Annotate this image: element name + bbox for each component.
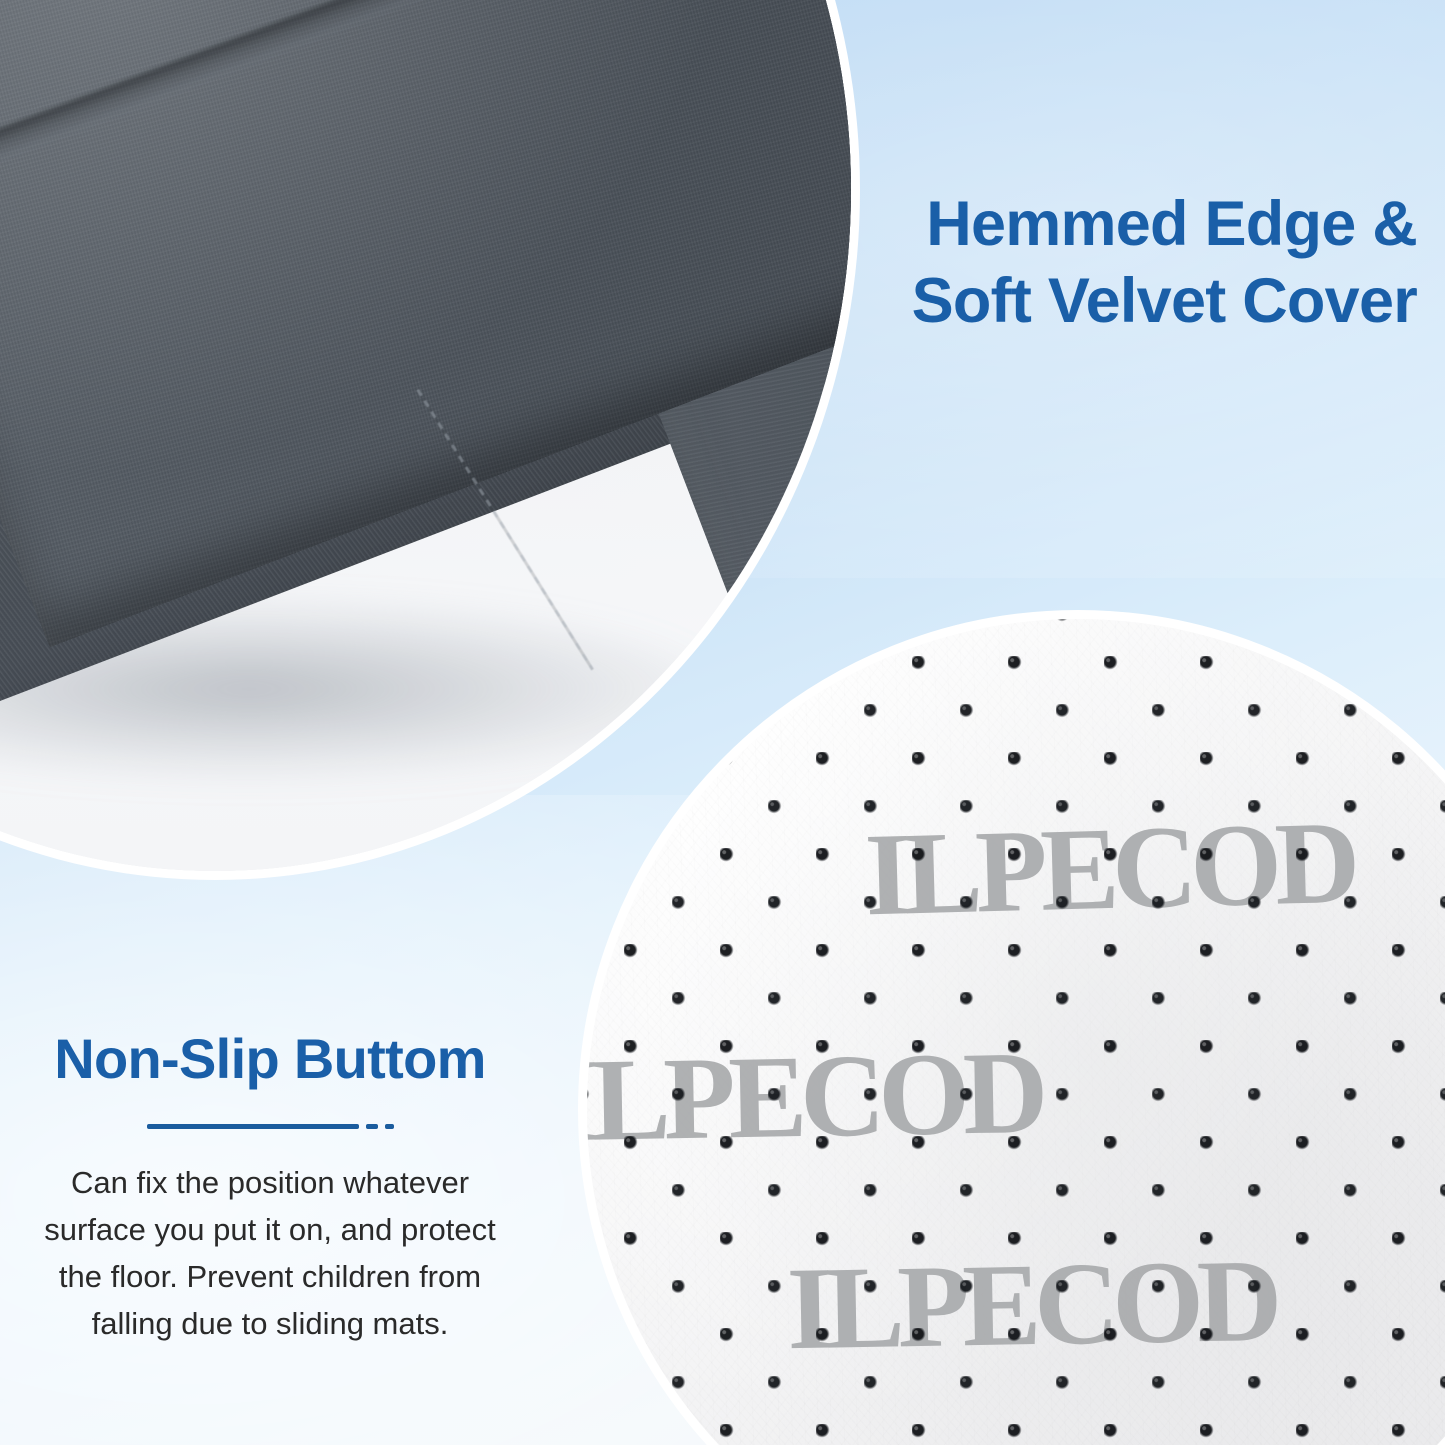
divider-dash-1 [366, 1124, 378, 1129]
divider-dash-2 [385, 1124, 394, 1129]
anti-slip-rubber-dots [578, 610, 1445, 1445]
product-feature-graphic: ILPECOD ILPECOD ILPECOD Hemmed Edge & So… [0, 0, 1445, 1445]
headline-line-1: Hemmed Edge & [926, 189, 1417, 259]
feature-non-slip-block: Non-Slip Buttom Can fix the position wha… [0, 1028, 540, 1347]
headline-line-2: Soft Velvet Cover [717, 263, 1417, 340]
feature-divider [0, 1124, 540, 1129]
divider-bar [147, 1124, 359, 1129]
feature-description: Can fix the position whatever surface yo… [0, 1159, 540, 1347]
headline-hemmed-edge: Hemmed Edge & Soft Velvet Cover [717, 186, 1417, 340]
feature-title: Non-Slip Buttom [0, 1028, 540, 1090]
product-photo-non-slip-bottom: ILPECOD ILPECOD ILPECOD [578, 610, 1445, 1445]
